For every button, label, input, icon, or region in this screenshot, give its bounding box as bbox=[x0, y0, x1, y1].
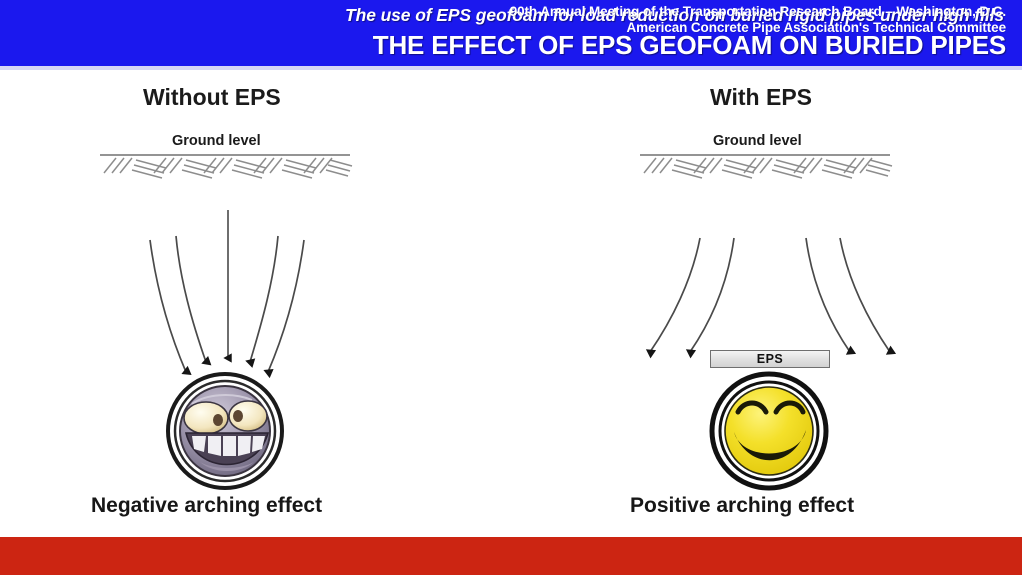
load-arrows-right bbox=[650, 238, 890, 352]
ground-line-right bbox=[640, 155, 892, 178]
diagram-illustration bbox=[0, 0, 1022, 575]
load-arrows-left bbox=[150, 210, 304, 372]
eps-geofoam-block: EPS bbox=[710, 350, 830, 368]
eps-block-label: EPS bbox=[711, 351, 829, 367]
caption-negative-arching: Negative arching effect bbox=[91, 494, 322, 518]
caption-positive-arching: Positive arching effect bbox=[630, 494, 854, 518]
ground-line-left bbox=[100, 155, 352, 178]
pipe-negative-arching bbox=[168, 374, 282, 488]
footer-meeting-line: 90th Annual Meeting of the Transportatio… bbox=[510, 4, 1006, 19]
footer-organization-line: American Concrete Pipe Association's Tec… bbox=[627, 20, 1006, 35]
slide-canvas: The use of EPS geofoam for load reductio… bbox=[0, 0, 1022, 575]
pipe-positive-arching bbox=[712, 374, 826, 488]
footer-banner bbox=[0, 537, 1022, 575]
